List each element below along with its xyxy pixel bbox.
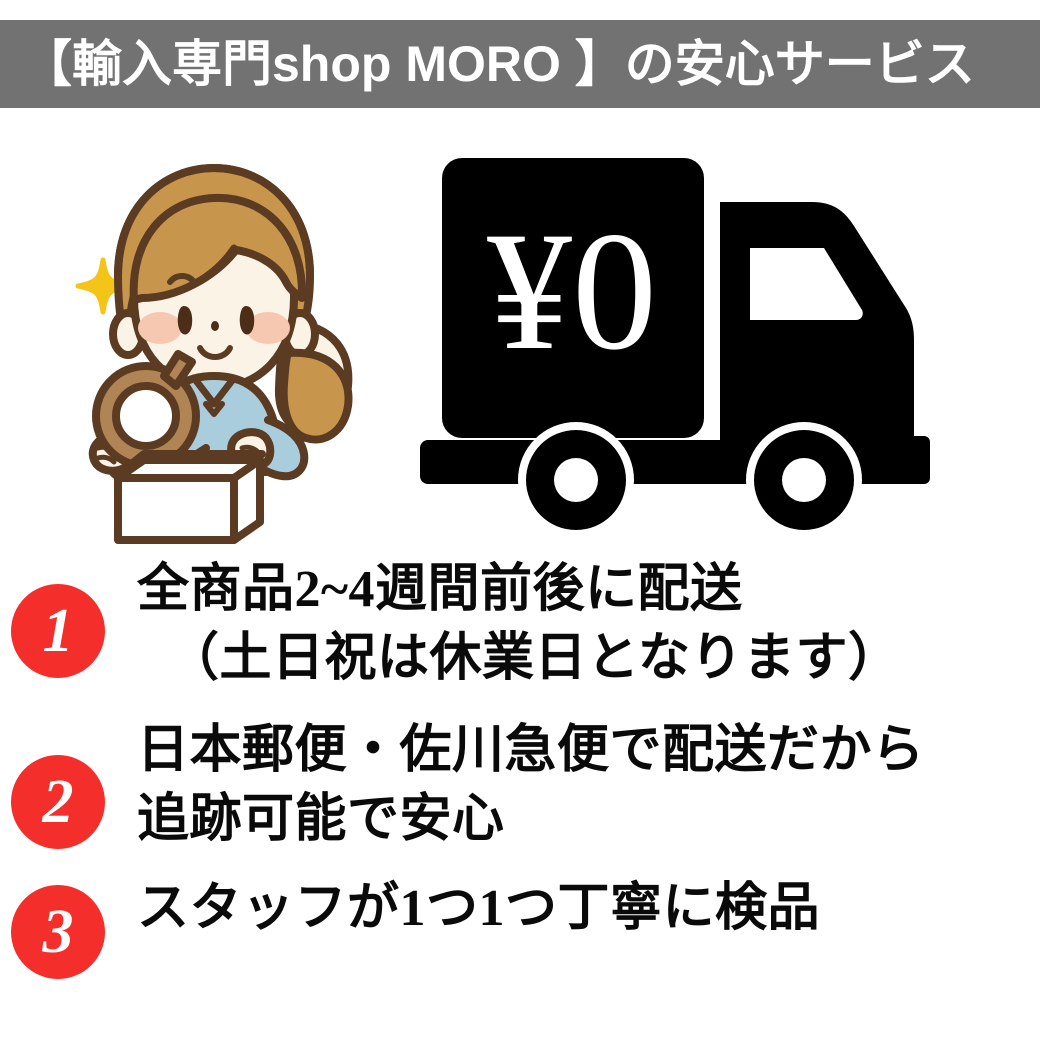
free-shipping-truck-illustration: ¥0: [420, 140, 1000, 545]
list-item: 3 スタッフが1つ1つ丁寧に検品: [0, 875, 1040, 979]
list-item-line: （土日祝は休業日となります）: [137, 625, 1040, 694]
illustration-row: ¥0: [0, 130, 1040, 540]
list-item-line: スタッフが1つ1つ丁寧に検品: [137, 875, 1040, 944]
list-item-text-2: 日本郵便・佐川急便で配送だから 追跡可能で安心: [105, 717, 1040, 854]
list-item: 2 日本郵便・佐川急便で配送だから 追跡可能で安心: [0, 717, 1040, 854]
page-title: 【輸入専門shop MORO 】の安心サービス: [0, 39, 975, 89]
list-number-badge-3: 3: [11, 885, 105, 979]
service-list: 1 全商品2~4週間前後に配送 （土日祝は休業日となります） 2 日本郵便・佐川…: [0, 556, 1040, 979]
list-item-line: 追跡可能で安心: [137, 786, 1040, 855]
list-number-badge-2: 2: [11, 755, 105, 849]
list-item-line: 全商品2~4週間前後に配送: [137, 556, 1040, 625]
list-item-text-3: スタッフが1つ1つ丁寧に検品: [105, 875, 1040, 944]
free-shipping-price-text: ¥0: [487, 197, 657, 385]
list-number-badge-1: 1: [11, 584, 105, 678]
cardboard-box-icon: [118, 460, 260, 540]
list-item: 1 全商品2~4週間前後に配送 （土日祝は休業日となります）: [0, 556, 1040, 693]
list-item-line: 日本郵便・佐川急便で配送だから: [137, 717, 1040, 786]
woman-inspecting-package-illustration: [46, 148, 386, 553]
delivery-truck-icon: ¥0: [420, 158, 930, 538]
header-band: 【輸入専門shop MORO 】の安心サービス: [0, 20, 1040, 108]
list-item-text-1: 全商品2~4週間前後に配送 （土日祝は休業日となります）: [105, 556, 1040, 693]
promo-banner-page: 【輸入専門shop MORO 】の安心サービス: [0, 0, 1040, 1040]
magnifying-glass-icon: [96, 354, 196, 466]
